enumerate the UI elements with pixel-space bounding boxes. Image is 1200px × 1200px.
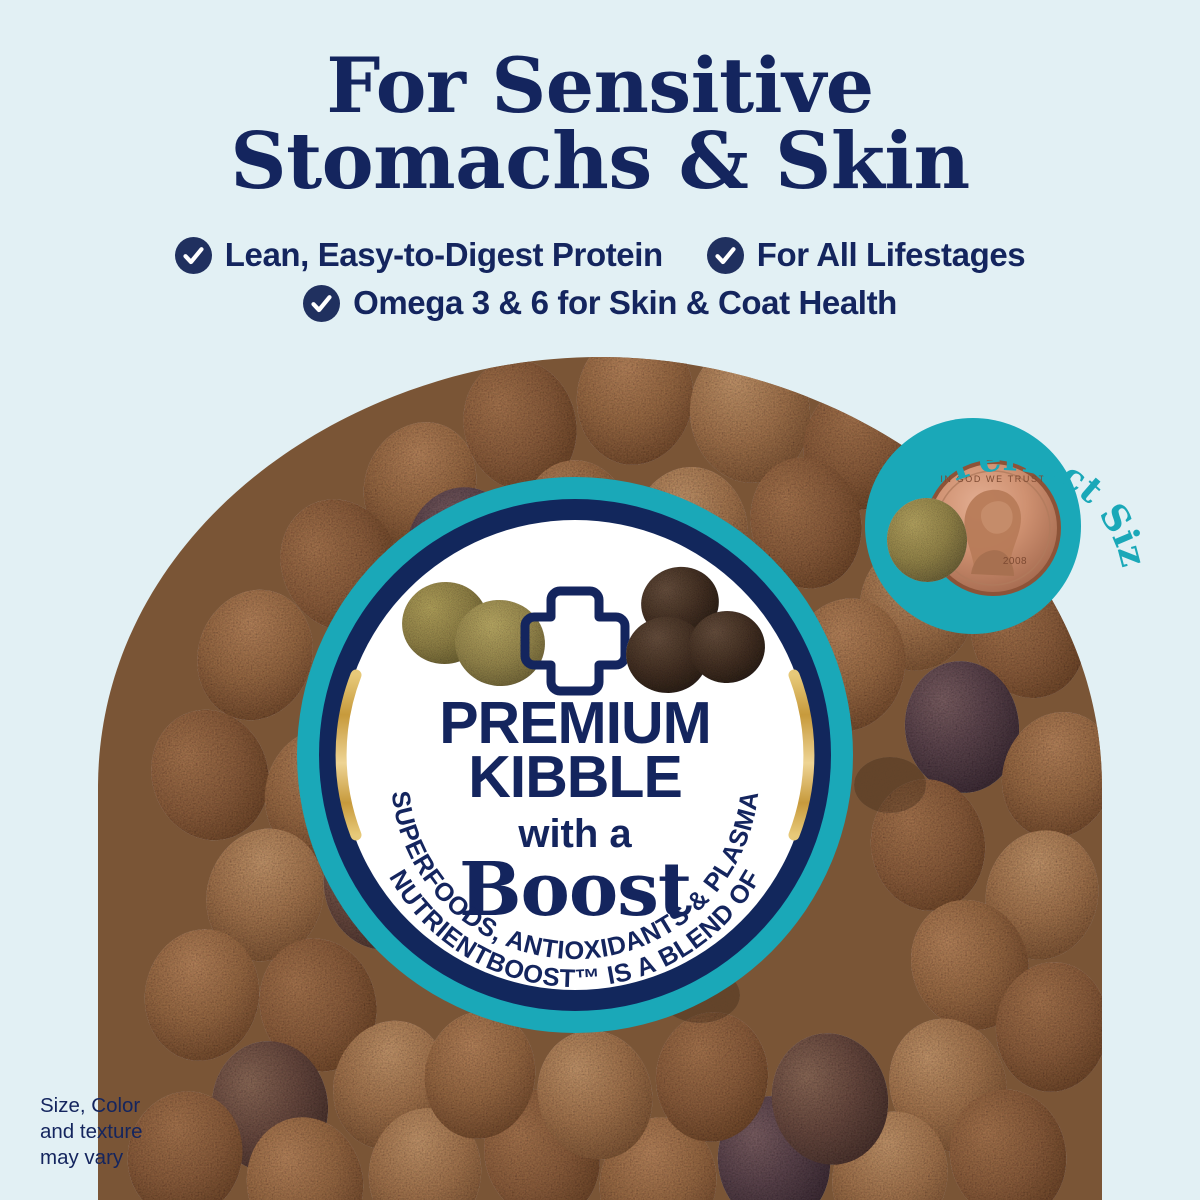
bullet-row: Omega 3 & 6 for Skin & Coat Health — [0, 284, 1200, 322]
disclaimer-text: Size, Color and texture may vary — [40, 1093, 143, 1172]
perfect-size-badge: IN GOD WE TRUST 2008 Perfect Size! — [855, 378, 1155, 668]
bullet-item-omega: Omega 3 & 6 for Skin & Coat Health — [303, 284, 897, 322]
check-circle-icon — [303, 285, 340, 322]
bullet-row: Lean, Easy-to-Digest Protein For All Lif… — [0, 236, 1200, 274]
page-title: For Sensitive Stomachs & Skin — [0, 48, 1200, 200]
disclaimer-line-2: and texture — [40, 1119, 143, 1145]
bullet-label: Lean, Easy-to-Digest Protein — [225, 236, 663, 274]
bullet-label: For All Lifestages — [757, 236, 1025, 274]
bullet-label: Omega 3 & 6 for Skin & Coat Health — [353, 284, 897, 322]
coin-year: 2008 — [1003, 556, 1027, 567]
product-graphic-canvas: For Sensitive Stomachs & Skin Lean, Easy… — [0, 0, 1200, 1200]
check-circle-icon — [175, 237, 212, 274]
headline-line-2: Stomachs & Skin — [0, 123, 1200, 200]
badge-title-line-2: KIBBLE — [468, 744, 682, 810]
bullet-item-lifestages: For All Lifestages — [707, 236, 1025, 274]
disclaimer-line-1: Size, Color — [40, 1093, 143, 1119]
disclaimer-line-3: may vary — [40, 1145, 143, 1171]
headline-line-1: For Sensitive — [0, 48, 1200, 123]
premium-kibble-badge: PREMIUM KIBBLE with a Boost NUTRIENTBOOS… — [295, 475, 855, 1035]
feature-bullet-list: Lean, Easy-to-Digest Protein For All Lif… — [0, 236, 1200, 332]
check-circle-icon — [707, 237, 744, 274]
bullet-item-protein: Lean, Easy-to-Digest Protein — [175, 236, 663, 274]
